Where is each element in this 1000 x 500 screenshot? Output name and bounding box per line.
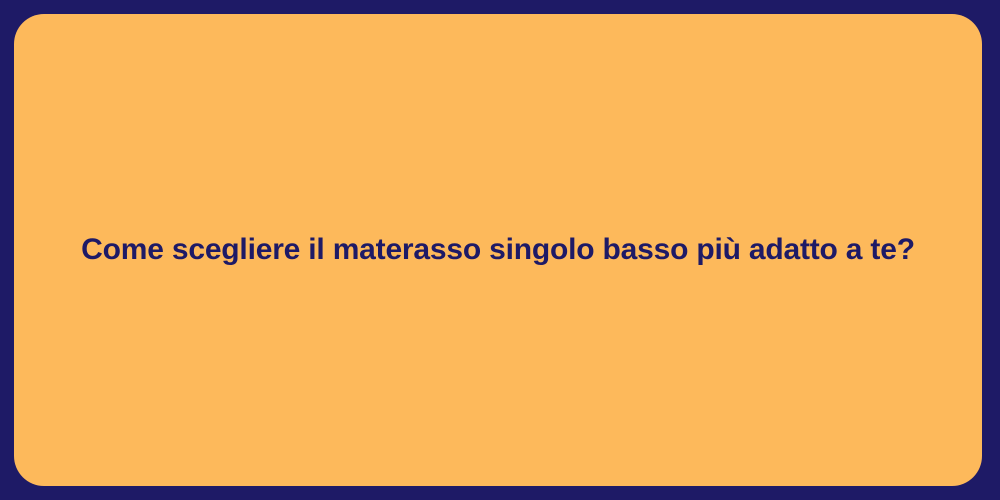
card-outer-frame: Come scegliere il materasso singolo bass… (0, 0, 1000, 500)
card-panel: Come scegliere il materasso singolo bass… (14, 14, 982, 486)
page-title: Come scegliere il materasso singolo bass… (81, 231, 915, 269)
